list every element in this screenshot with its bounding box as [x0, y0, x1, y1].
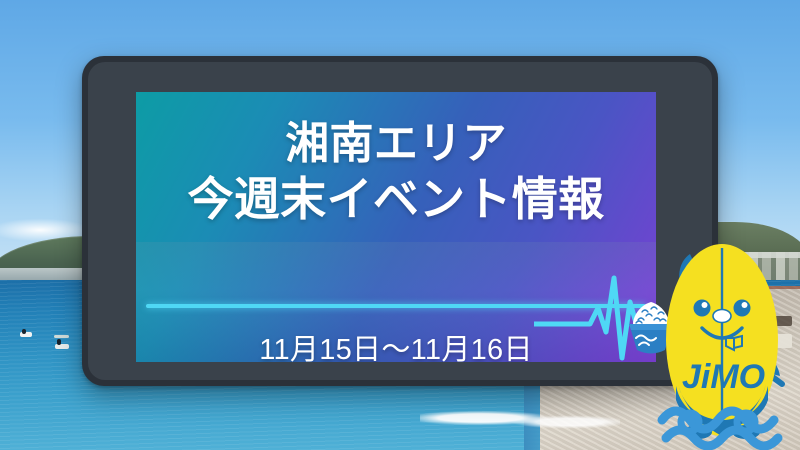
surfer [57, 339, 61, 345]
surf-foam [420, 404, 620, 432]
headline-line-2: 今週末イベント情報 [136, 173, 656, 226]
mascot-nose [713, 310, 731, 323]
tablet-bezel: 湘南エリア 今週末イベント情報 11月15日〜11月16日 [88, 62, 712, 380]
wave-icon [656, 392, 800, 450]
poster-headline: 湘南エリア 今週末イベント情報 [136, 118, 656, 226]
tablet-device: 湘南エリア 今週末イベント情報 11月15日〜11月16日 [82, 56, 718, 386]
surfer [22, 329, 26, 334]
mascot-logo-text: JiMO [682, 358, 765, 396]
headline-line-1: 湘南エリア [136, 118, 656, 169]
mascot-eye-right [734, 300, 751, 317]
mascot-tooth-right [734, 336, 742, 348]
mascot-eye-left [694, 300, 711, 317]
surfer [54, 335, 69, 338]
tablet-screen: 湘南エリア 今週末イベント情報 11月15日〜11月16日 [136, 92, 656, 362]
